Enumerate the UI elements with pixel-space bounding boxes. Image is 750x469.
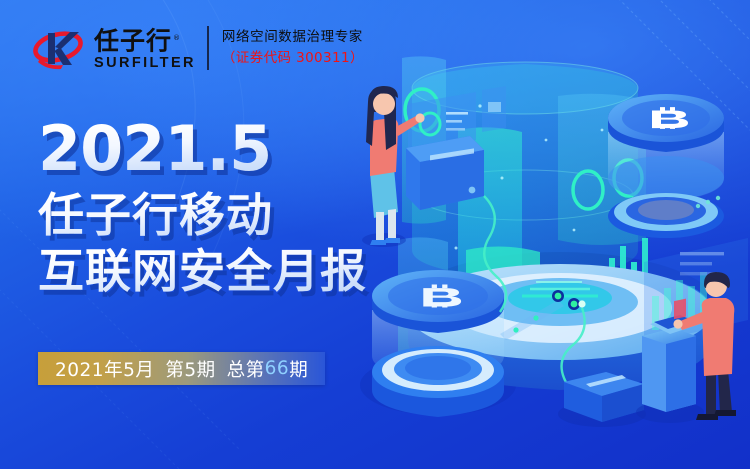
woman-head [373, 93, 395, 115]
surfilter-r-mark-icon [32, 26, 88, 70]
brand-header: 任子行® SURFILTER 网络空间数据治理专家 （证券代码 300311） [32, 22, 364, 74]
man-hand [673, 319, 682, 328]
issue-total-suffix: 期 [289, 356, 308, 382]
logo-chinese-name: 任子行® [94, 25, 196, 54]
company-tagline: 网络空间数据治理专家 [222, 28, 364, 46]
woman-leg-right [388, 209, 396, 239]
isometric-data-tower-illustration [350, 0, 750, 469]
man-leg-left [706, 372, 716, 416]
issue-total-prefix: 总第 [227, 356, 265, 382]
stock-code-label: （证券代码 300311） [222, 48, 364, 68]
title-year-month: 2021.5 [38, 118, 367, 180]
title-line-two: 任子行移动 [38, 190, 367, 240]
poster-banner: 任子行® SURFILTER 网络空间数据治理专家 （证券代码 300311） … [0, 0, 750, 469]
bitcoin-coin-left [372, 270, 504, 417]
woman-leg-left [376, 212, 384, 240]
header-tagline-group: 网络空间数据治理专家 （证券代码 300311） [222, 25, 364, 71]
logo-wordmark: 任子行® SURFILTER [94, 25, 196, 71]
man-torso [702, 298, 735, 376]
poster-title-block: 2021.5 任子行移动 互联网安全月报 [38, 118, 367, 296]
woman-hand [415, 113, 424, 122]
issue-total-number: 66 [265, 358, 290, 379]
man-leg-right [718, 370, 732, 414]
man-at-terminal-kiosk [636, 238, 748, 423]
logo-english-name: SURFILTER [94, 55, 196, 71]
header-divider [207, 26, 209, 70]
registered-mark: ® [173, 34, 181, 42]
issue-number: 第5期 [165, 356, 215, 382]
issue-info-bar: 2021年5月 第5期 总第 66 期 [38, 352, 325, 385]
logo-chinese-text: 任子行 [94, 26, 172, 55]
title-line-three: 互联网安全月报 [38, 246, 367, 296]
bitcoin-coin-top [608, 94, 724, 238]
issue-date: 2021年5月 [55, 356, 154, 382]
